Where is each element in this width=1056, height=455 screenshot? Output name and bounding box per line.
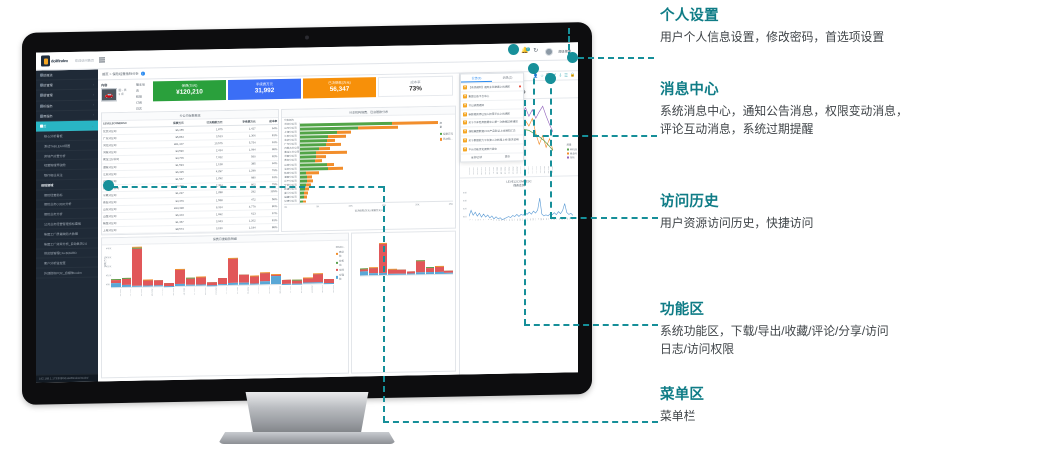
vbar-column[interactable] bbox=[186, 278, 196, 287]
vbar-column[interactable] bbox=[207, 282, 217, 286]
axis-tick: 2022-03 bbox=[260, 286, 270, 295]
axis-tick: 2021-11 bbox=[218, 287, 228, 296]
axis-tick: 11 bbox=[495, 219, 497, 228]
kpi-card-2: 已决赔款(万元)56,347 bbox=[303, 77, 376, 98]
vbar-column[interactable] bbox=[388, 269, 397, 275]
connector-history-h bbox=[550, 217, 658, 219]
axis-tick: 2022-09 bbox=[546, 166, 549, 175]
notification-footer: 全部已读 更多 bbox=[461, 153, 523, 162]
notification-text: 新数据资源已加入权限平台上线通知 bbox=[469, 111, 511, 116]
monitor-screen: dolifindex 欢迎访问首页 🔔 3 ↻ 超级管理 bbox=[36, 42, 578, 382]
axis-tick: 2021-10 bbox=[503, 167, 506, 176]
axis-tick: 12 bbox=[498, 219, 500, 228]
vbar-column[interactable] bbox=[444, 270, 453, 273]
legend-label: 非机动 bbox=[339, 259, 346, 267]
axis-tick: 33 bbox=[553, 218, 555, 227]
content-area: 首页 > 保险经营指标分析 i 内容 bbox=[98, 60, 578, 381]
log-icon[interactable]: ☰ bbox=[564, 73, 568, 78]
axis-tick: 2022-07 bbox=[303, 285, 313, 294]
table-body: 北京分公司¥6,1551,8751,42764%广东分公司¥5,8643,513… bbox=[102, 125, 278, 235]
axis-tick: 2022-01 bbox=[514, 166, 517, 175]
mark-all-read-button[interactable]: 全部已读 bbox=[461, 154, 492, 162]
axis-tick: 25 bbox=[532, 218, 534, 227]
kpi-value: 56,347 bbox=[303, 86, 376, 94]
vbar-column[interactable] bbox=[218, 278, 228, 286]
axis-tick: ¥0K bbox=[106, 285, 110, 287]
vbar-segment bbox=[260, 281, 270, 285]
vbar-column[interactable] bbox=[196, 276, 206, 286]
more-button[interactable]: 更多 bbox=[492, 153, 523, 161]
axis-tick: 2022-04 bbox=[526, 166, 529, 175]
kpi-row: 保费(万元)¥120,210手续费万元31,992已决赔款(万元)56,347成… bbox=[150, 76, 456, 104]
vbar-plot bbox=[111, 244, 334, 288]
star-icon[interactable]: ☆ bbox=[540, 73, 544, 78]
chevron-right-icon: › bbox=[93, 113, 94, 117]
axis-tick: 2022-06 bbox=[292, 286, 302, 295]
callout-line: 系统功能区，下载/导出/收藏/评论/分享/访问 bbox=[660, 322, 1052, 340]
vbar-segment bbox=[271, 276, 281, 285]
vbar-column[interactable] bbox=[228, 258, 238, 286]
vbar-legend: RISKC.. 商业险 非机动 车险 交强险 bbox=[334, 244, 346, 294]
notification-list: ★【系统通知】通用业务数据上线通知★集团公告平台中心★节日放假通知★新数据资源已… bbox=[461, 83, 523, 154]
connector-menu-v bbox=[383, 186, 385, 422]
topbar-actions: 🔔 3 ↻ 超级管理 bbox=[521, 47, 573, 56]
kpi-card-0: 保费(万元)¥120,210 bbox=[153, 80, 226, 101]
notification-badge: 3 bbox=[526, 47, 530, 51]
axis-tick: 4 bbox=[477, 219, 479, 228]
chevron-right-icon: › bbox=[93, 93, 94, 97]
callout-title: 消息中心 bbox=[660, 78, 1052, 99]
tab-basic-info[interactable]: 基本信息 bbox=[134, 82, 147, 94]
sidebar-scroll: 系统概览 系统管理 › 数据管理 › bbox=[36, 69, 98, 374]
vbar-segment bbox=[164, 286, 174, 287]
vbar-segment bbox=[196, 284, 206, 286]
chevron-right-icon: › bbox=[93, 82, 94, 86]
vbar-column[interactable] bbox=[407, 271, 416, 274]
axis-tick: 2021-12 bbox=[228, 287, 238, 296]
axis-tick: 32 bbox=[550, 218, 552, 227]
right-rail: 👤 ☆ 💬 ❮ ⇩ ☰ 🔒 费用率 bbox=[460, 71, 578, 374]
hbar-plot bbox=[299, 120, 437, 204]
legend-item: 商业险 bbox=[336, 250, 346, 258]
axis-tick: 2021-06 bbox=[487, 167, 490, 176]
axis-tick: 2022-06 bbox=[534, 166, 537, 175]
bell-icon: ★ bbox=[463, 86, 467, 90]
axis-tick: 2021-06 bbox=[164, 288, 174, 297]
vbar-segment bbox=[416, 272, 425, 274]
notification-text: 【系统通知】通用业务数据上线通知 bbox=[469, 85, 511, 90]
vbar-legend-title: RISKC.. bbox=[336, 245, 346, 248]
vbar-segment bbox=[369, 273, 378, 275]
vbar-segment bbox=[207, 285, 217, 286]
bell-icon: ★ bbox=[463, 121, 467, 125]
axis-tick: 8 bbox=[487, 219, 489, 228]
callout-dot-personal-end bbox=[567, 52, 578, 63]
line-x-labels: 2021-012021-022021-032021-042021-052021-… bbox=[467, 166, 553, 177]
axis-tick: 21 bbox=[522, 218, 524, 227]
callout-line: 日志/访问权限 bbox=[660, 340, 1052, 358]
axis-tick: 18 bbox=[514, 218, 516, 227]
axis-tick: 14 bbox=[503, 219, 505, 228]
connector-history-v bbox=[550, 78, 552, 218]
vbar-column[interactable] bbox=[239, 274, 249, 285]
chevron-down-icon: ⌄ bbox=[91, 123, 94, 127]
axis-tick: 2021-04 bbox=[143, 288, 153, 297]
axis-tick: ¥1K bbox=[463, 216, 467, 218]
axis-tick: 15 bbox=[506, 219, 508, 228]
avatar[interactable] bbox=[545, 47, 553, 55]
vbar-segment bbox=[239, 283, 249, 285]
vbar-segment bbox=[303, 283, 313, 285]
axis-tick: 2021-02 bbox=[122, 289, 132, 298]
vbar-segment bbox=[313, 282, 323, 284]
monitor-stand-neck bbox=[243, 392, 371, 434]
axis-tick: 2021-11 bbox=[507, 167, 510, 176]
callout-title: 菜单区 bbox=[660, 383, 1052, 404]
grid-icon bbox=[40, 74, 43, 77]
bell-icon: ★ bbox=[463, 138, 467, 142]
axis-tick: 2 bbox=[472, 219, 474, 228]
connector-message-v bbox=[533, 68, 535, 136]
legend-item-claims: 已决赔... bbox=[440, 137, 453, 141]
vbar-segment bbox=[143, 286, 153, 288]
multi-line-legend: 度量 非机动 商业险 车险 bbox=[567, 142, 577, 159]
vbar-column[interactable] bbox=[132, 247, 142, 287]
sidebar-item-home[interactable]: 首页 ⌄ bbox=[36, 120, 98, 131]
vbar-panel-secondary bbox=[351, 230, 456, 373]
vbar-segment bbox=[388, 274, 397, 275]
callout-line: 用户资源访问历史，快捷访问 bbox=[660, 214, 1052, 232]
vbar-column[interactable] bbox=[175, 269, 185, 287]
report-thumbnail[interactable]: 🚗 bbox=[101, 88, 117, 101]
bell-icon: ★ bbox=[463, 112, 467, 116]
axis-tick: ¥3K bbox=[463, 200, 467, 202]
hbar-legend: 度量 保费万元 已决赔... bbox=[438, 120, 453, 201]
axis-tick: 28 bbox=[540, 218, 542, 227]
branch-table-panel: 分公司保费概览 LEVEL2COMDESC保费万元已决赔款万元手续费万元成本率 … bbox=[101, 109, 279, 235]
kpi-value: 31,992 bbox=[228, 87, 301, 95]
hbar-panel: 分支机构保费、已决赔款分布 分支机构 河北分公司山东分公司上海分公司江苏分公司北… bbox=[281, 106, 456, 232]
chart-icon bbox=[40, 104, 43, 107]
callout-visit-history: 访问历史 用户资源访问历史，快捷访问 bbox=[660, 190, 1052, 232]
connector-personal-h bbox=[568, 57, 654, 59]
legend-swatch bbox=[440, 138, 442, 140]
kpi-value: ¥120,210 bbox=[153, 88, 226, 96]
axis-tick: 2021-08 bbox=[495, 167, 498, 176]
thumbnail-meta: 图 - 表 3 项 bbox=[119, 88, 127, 101]
vbar-column[interactable] bbox=[111, 279, 121, 288]
vbar-column[interactable] bbox=[397, 269, 406, 274]
branch-table[interactable]: LEVEL2COMDESC保费万元已决赔款万元手续费万元成本率 北京分公司¥6,… bbox=[102, 118, 278, 234]
axis-tick: 2022-08 bbox=[542, 166, 545, 175]
axis-tick: 24 bbox=[529, 218, 531, 227]
axis-tick: 7 bbox=[485, 219, 487, 228]
vbar-segment bbox=[228, 259, 238, 283]
bell-icon: ★ bbox=[463, 147, 467, 151]
notification-text: 保险集团数据POC产品验证上线通知汇总 bbox=[469, 129, 516, 134]
axis-tick: 5 bbox=[480, 219, 482, 228]
axis-tick: 6 bbox=[482, 219, 484, 228]
vbar-column[interactable] bbox=[303, 278, 313, 284]
vbar-segment bbox=[282, 283, 292, 284]
sidebar-subitem[interactable]: 外部指标POC_自媒体codm bbox=[36, 268, 98, 279]
info-icon[interactable]: i bbox=[141, 71, 145, 75]
resource-label: 内容 bbox=[101, 82, 127, 87]
unread-dot bbox=[519, 86, 521, 88]
axis-tick: 2021-07 bbox=[491, 167, 494, 176]
axis-tick: 2021-03 bbox=[475, 167, 478, 176]
axis-tick: 19 bbox=[516, 218, 518, 227]
top-subtitle: 欢迎访问首页 bbox=[75, 58, 94, 63]
logo-text: dolifindex bbox=[51, 58, 68, 63]
vbar-column[interactable] bbox=[250, 275, 260, 285]
axis-tick: 3 bbox=[474, 219, 476, 228]
legend-label: 车险 bbox=[339, 268, 344, 272]
axis-tick: 2021-12 bbox=[510, 166, 513, 175]
axis-tick: 13 bbox=[501, 219, 503, 228]
axis-tick: 2022-02 bbox=[518, 166, 521, 175]
app-body: 系统概览 系统管理 › 数据管理 › bbox=[36, 60, 578, 382]
axis-tick: 2022-09 bbox=[324, 285, 334, 294]
connector-function-h bbox=[524, 324, 658, 326]
axis-tick: 2021-10 bbox=[207, 287, 217, 296]
notification-text: 关于数据能力平台第二次新增上线-需求说明 bbox=[469, 137, 519, 142]
callout-title: 功能区 bbox=[660, 298, 1052, 319]
axis-tick: 2022-05 bbox=[282, 286, 292, 295]
axis-tick: 2022-01 bbox=[239, 287, 249, 296]
status-bar: 192.168.1.173:8080/dataWindow/main# bbox=[36, 373, 98, 382]
axis-tick: 29 bbox=[543, 218, 545, 227]
dashboard-app: dolifindex 欢迎访问首页 🔔 3 ↻ 超级管理 bbox=[36, 42, 578, 382]
legend-item: 车险 bbox=[567, 155, 577, 159]
webcam-icon bbox=[305, 35, 309, 39]
vbar-column[interactable] bbox=[122, 278, 132, 288]
vbar-segment bbox=[239, 275, 249, 283]
axis-tick: 16 bbox=[508, 219, 510, 228]
vbar-segment bbox=[435, 272, 444, 274]
vbar-segment bbox=[175, 284, 185, 287]
axis-tick: 31 bbox=[548, 218, 550, 227]
vbar-segment bbox=[186, 284, 196, 286]
page-root: dolifindex 欢迎访问首页 🔔 3 ↻ 超级管理 bbox=[0, 0, 1056, 455]
charts-row-top: 分公司保费概览 LEVEL2COMDESC保费万元已决赔款万元手续费万元成本率 … bbox=[98, 106, 459, 236]
vbar-segment bbox=[132, 248, 142, 285]
connector-menu-h bbox=[112, 186, 384, 188]
vbar-segment bbox=[250, 283, 260, 285]
sidebar: 系统概览 系统管理 › 数据管理 › bbox=[36, 69, 98, 382]
hbar-chart: 河北分公司山东分公司上海分公司江苏分公司北京分公司广东分公司内蒙古分公司黑龙江分… bbox=[282, 120, 455, 204]
vbar-segment bbox=[218, 284, 228, 286]
tab-messages[interactable]: 消息(2) bbox=[492, 73, 523, 82]
axis-tick: 1 bbox=[469, 219, 471, 228]
vbar-segment bbox=[397, 273, 406, 274]
vbar-column[interactable] bbox=[435, 266, 444, 274]
callout-line: 系统消息中心，通知公告消息，权限变动消息， bbox=[660, 102, 1052, 120]
vbar-column[interactable] bbox=[282, 279, 292, 284]
vbar-column[interactable] bbox=[292, 280, 302, 285]
vbar-chart: 保费(万元) ¥40K¥30K¥20K¥10K¥0K 2021-012021-0… bbox=[102, 241, 348, 298]
axis-tick: 2021-05 bbox=[483, 167, 486, 176]
callout-title: 个人设置 bbox=[660, 4, 1052, 25]
app-logo[interactable]: dolifindex bbox=[41, 55, 68, 67]
vbar-column[interactable] bbox=[324, 279, 334, 284]
legend-item: 交强险 bbox=[336, 273, 346, 281]
tab-announcements[interactable]: 公告(3) bbox=[461, 74, 492, 83]
axis-tick: 2021-01 bbox=[111, 289, 121, 298]
vbar-column[interactable] bbox=[260, 272, 270, 284]
connector-function-v bbox=[524, 100, 526, 325]
vbar-segment bbox=[407, 274, 416, 275]
workspace: 内容 🚗 图 - 表 3 项 bbox=[98, 71, 578, 381]
charts-row-bottom: 保费月度趋势明细 保费(万元) ¥40K¥30K¥20K¥10K¥0K bbox=[98, 228, 459, 381]
axis-tick: 2021-01 bbox=[467, 167, 470, 176]
vbar-column[interactable] bbox=[426, 267, 435, 274]
legend-item: 非机动 bbox=[336, 259, 346, 267]
vbar-column[interactable] bbox=[154, 280, 164, 287]
axis-tick: 20 bbox=[519, 218, 521, 227]
vbar-segment bbox=[154, 285, 164, 287]
menu-icon[interactable] bbox=[99, 57, 105, 62]
lock-icon[interactable]: 🔒 bbox=[570, 73, 575, 78]
axis-tick: 2022-04 bbox=[271, 286, 281, 295]
vbar-segment bbox=[416, 261, 425, 272]
axis-tick: 2021-04 bbox=[479, 167, 482, 176]
axis-tick: 26 bbox=[535, 218, 537, 227]
monitor-stand-base bbox=[218, 432, 396, 444]
callout-menu-area: 菜单区 菜单栏 bbox=[660, 383, 1052, 425]
home-icon bbox=[40, 125, 43, 128]
history-icon[interactable]: ↻ bbox=[533, 48, 540, 55]
axis-tick: 2022-07 bbox=[538, 166, 541, 175]
bell-icon: ★ bbox=[463, 103, 467, 107]
axis-tick: 27 bbox=[537, 218, 539, 227]
axis-tick: 2021-09 bbox=[499, 167, 502, 176]
vbar-column[interactable] bbox=[271, 274, 281, 284]
download-icon[interactable]: ⇩ bbox=[559, 73, 562, 78]
legend-label: 商业险 bbox=[339, 250, 346, 258]
legend-label: 车险 bbox=[570, 155, 575, 159]
logo-icon bbox=[41, 55, 50, 66]
legend-label: 交强险 bbox=[339, 273, 346, 281]
bell-icon: ★ bbox=[463, 94, 467, 98]
axis-tick: 2021-02 bbox=[471, 167, 474, 176]
legend-item: 车险 bbox=[336, 268, 346, 272]
gear-icon bbox=[40, 84, 43, 87]
axis-tick: 2021-03 bbox=[132, 289, 142, 298]
vbar-segment bbox=[132, 285, 142, 287]
vbar-column[interactable] bbox=[164, 283, 174, 287]
callout-line: 菜单栏 bbox=[660, 407, 1052, 425]
breadcrumb-text[interactable]: 首页 > 保险经营指标分析 bbox=[102, 71, 139, 77]
connector-menu-h2 bbox=[383, 421, 658, 423]
axis-tick: 2022-05 bbox=[530, 166, 533, 175]
axis-tick: 17 bbox=[511, 218, 513, 227]
axis-tick: 2021-05 bbox=[154, 288, 164, 297]
vbar-plot-secondary bbox=[360, 235, 453, 277]
vbar-segment bbox=[111, 283, 121, 288]
vbar-segment bbox=[292, 283, 302, 284]
vbar-segment bbox=[228, 283, 238, 286]
vbar-segment bbox=[444, 273, 453, 274]
vbar-segment bbox=[260, 273, 270, 281]
kpi-value: 73% bbox=[379, 85, 452, 93]
axis-tick: 23 bbox=[527, 218, 529, 227]
callout-message-center: 消息中心 系统消息中心，通知公告消息，权限变动消息， 评论互动消息，系统过期提醒 bbox=[660, 78, 1052, 139]
axis-tick: 30 bbox=[545, 218, 547, 227]
vbar-segment bbox=[360, 272, 369, 276]
axis-tick: ¥4K bbox=[463, 192, 467, 194]
dashboard-canvas: 内容 🚗 图 - 表 3 项 bbox=[98, 73, 460, 381]
callout-function-area: 功能区 系统功能区，下载/导出/收藏/评论/分享/访问 日志/访问权限 bbox=[660, 298, 1052, 359]
callout-dot-personal bbox=[508, 44, 519, 55]
notification-panel: 公告(3) 消息(2) ★【系统通知】通用业务数据上线通知★集团公告平台中心★节… bbox=[460, 72, 524, 163]
callout-personal-settings: 个人设置 用户个人信息设置，修改密码，首选项设置 bbox=[660, 4, 1052, 46]
monitor-frame: dolifindex 欢迎访问首页 🔔 3 ↻ 超级管理 bbox=[22, 22, 592, 405]
hbar-category-labels: 河北分公司山东分公司上海分公司江苏分公司北京分公司广东分公司内蒙古分公司黑龙江分… bbox=[284, 123, 299, 204]
kpi-card-1: 手续费万元31,992 bbox=[228, 79, 301, 100]
notification-text: 平台功能优化更新升级中 bbox=[469, 147, 498, 152]
notification-text: 关于汽车险类数据中心第一次数据迁移通知 bbox=[469, 120, 518, 125]
axis-tick: 10 bbox=[493, 219, 495, 228]
callout-line: 用户个人信息设置，修改密码，首选项设置 bbox=[660, 28, 1052, 46]
bell-icon: ★ bbox=[463, 130, 467, 134]
callout-title: 访问历史 bbox=[660, 190, 1052, 211]
legend-label: 保费万元 bbox=[443, 132, 453, 136]
apps-icon bbox=[40, 114, 43, 117]
vbar-panel: 保费月度趋势明细 保费(万元) ¥40K¥30K¥20K¥10K¥0K bbox=[101, 233, 349, 379]
vbar-column[interactable] bbox=[369, 267, 378, 275]
meta-line-2: 3 项 bbox=[119, 92, 127, 96]
callout-line: 评论互动消息，系统过期提醒 bbox=[660, 120, 1052, 138]
axis-tick: 2021-09 bbox=[196, 287, 206, 296]
vbar-segment bbox=[313, 274, 323, 282]
vbar-segment bbox=[324, 283, 334, 284]
trend-line-panel: LEVEL2COMDESC 保费走势 ¥4K¥3K¥2K¥1K 12345678… bbox=[460, 176, 578, 230]
axis-tick: 2021-08 bbox=[186, 288, 196, 297]
vbar-segment bbox=[175, 270, 185, 284]
notification-text: 集团公告平台中心 bbox=[469, 94, 490, 98]
vbar-column[interactable] bbox=[143, 280, 153, 287]
vbar-column[interactable] bbox=[416, 260, 425, 274]
legend-swatch bbox=[440, 133, 442, 135]
vbar-segment bbox=[122, 285, 132, 288]
axis-tick: 9 bbox=[490, 219, 492, 228]
chevron-right-icon: › bbox=[93, 103, 94, 107]
legend-label: 已决赔... bbox=[443, 137, 453, 141]
kpi-card-3: 成本率73% bbox=[378, 76, 453, 97]
notification-text: 节日放假通知 bbox=[469, 103, 485, 107]
vbar-column[interactable] bbox=[313, 273, 323, 284]
vbar-segment bbox=[426, 273, 435, 275]
vbar-column[interactable] bbox=[360, 268, 369, 275]
bell-icon[interactable]: 🔔 3 bbox=[521, 48, 528, 55]
axis-tick: 2022-02 bbox=[250, 286, 260, 295]
legend-item-premium: 保费万元 bbox=[440, 132, 453, 136]
axis-tick: ¥2K bbox=[463, 208, 467, 210]
axis-tick: 2021-07 bbox=[175, 288, 185, 297]
axis-tick: 2022-08 bbox=[313, 285, 323, 294]
